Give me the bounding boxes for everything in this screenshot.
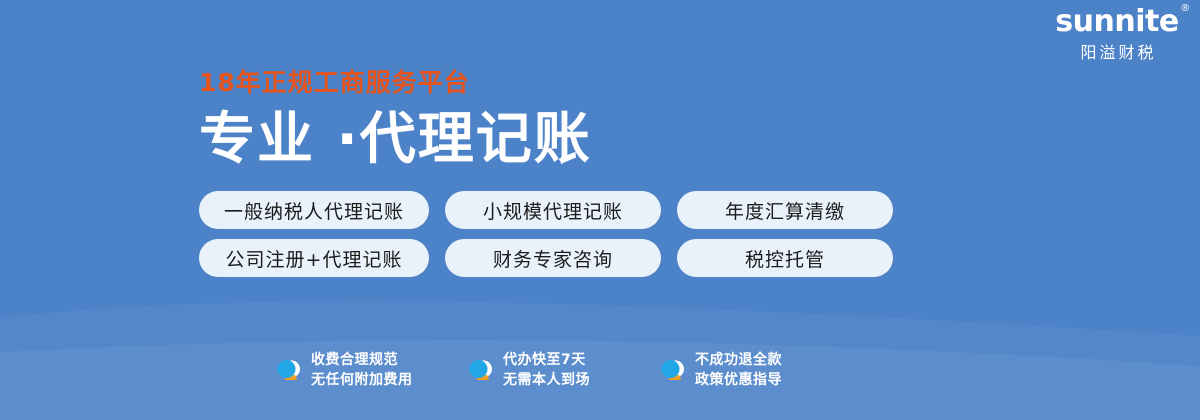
logo-wordmark-text: sunnite ®	[1055, 6, 1178, 38]
feature-item-text: 收费合理规范 无任何附加费用	[311, 350, 413, 391]
logo-chinese-name: 阳溢财税	[1042, 45, 1192, 61]
feature-item-pricing: 收费合理规范 无任何附加费用	[275, 350, 445, 391]
feature-line-2: 无需本人到场	[503, 372, 590, 388]
promo-banner: sunnite ® 阳溢财税 18年正规工商服务平台 专业 ·代理记账 一般纳税…	[0, 0, 1200, 420]
feature-line-2: 政策优惠指导	[695, 372, 782, 388]
feature-line-1: 不成功退全款	[695, 352, 782, 368]
service-pill-row-1: 一般纳税人代理记账 小规模代理记账 年度汇算清缴	[199, 191, 959, 229]
feature-line-2: 无任何附加费用	[311, 372, 413, 388]
service-pill-annual-tax-settlement[interactable]: 年度汇算清缴	[677, 191, 893, 229]
service-pill-general-taxpayer-bookkeeping[interactable]: 一般纳税人代理记账	[199, 191, 429, 229]
service-pill-group: 一般纳税人代理记账 小规模代理记账 年度汇算清缴 公司注册+代理记账 财务专家咨…	[199, 191, 959, 277]
dot-pair-icon	[467, 354, 495, 386]
brand-logo: sunnite ® 阳溢财税	[1042, 6, 1192, 61]
hero-copy-block: 18年正规工商服务平台 专业 ·代理记账 一般纳税人代理记账 小规模代理记账 年…	[199, 70, 959, 287]
feature-line-1: 收费合理规范	[311, 352, 398, 368]
feature-item-speed: 代办快至7天 无需本人到场	[467, 350, 637, 391]
feature-line-1: 代办快至7天	[503, 352, 586, 368]
service-pill-small-scale-bookkeeping[interactable]: 小规模代理记账	[445, 191, 661, 229]
feature-highlight-strip: 收费合理规范 无任何附加费用 代办快至7天 无需本人到场	[275, 350, 829, 391]
hero-headline: 专业 ·代理记账	[199, 110, 959, 170]
service-pill-financial-expert-consulting[interactable]: 财务专家咨询	[445, 239, 661, 277]
hero-eyebrow: 18年正规工商服务平台	[199, 70, 959, 95]
logo-wordmark-label: sunnite	[1055, 4, 1178, 39]
feature-item-text: 不成功退全款 政策优惠指导	[695, 350, 782, 391]
dot-pair-icon	[659, 354, 687, 386]
feature-item-text: 代办快至7天 无需本人到场	[503, 350, 590, 391]
service-pill-company-registration-bookkeeping[interactable]: 公司注册+代理记账	[199, 239, 429, 277]
feature-item-refund: 不成功退全款 政策优惠指导	[659, 350, 829, 391]
dot-pair-icon	[275, 354, 303, 386]
registered-trademark-icon: ®	[1180, 4, 1190, 15]
service-pill-row-2: 公司注册+代理记账 财务专家咨询 税控托管	[199, 239, 959, 277]
service-pill-tax-control-hosting[interactable]: 税控托管	[677, 239, 893, 277]
